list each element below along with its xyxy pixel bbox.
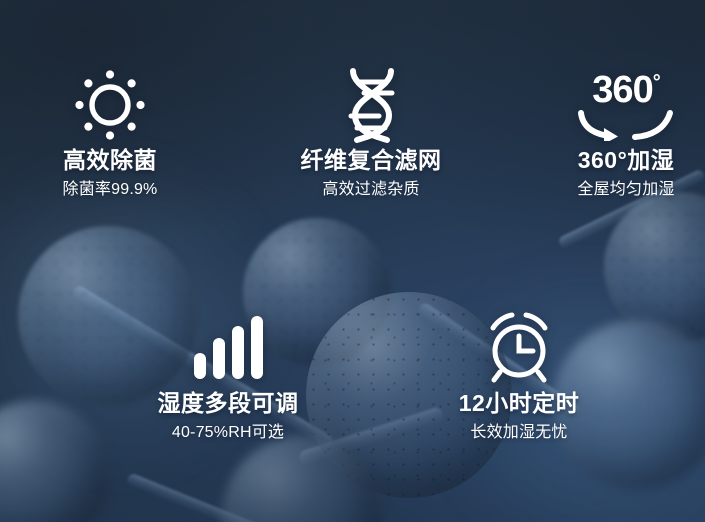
rotation-360-icon: 360° (573, 62, 679, 148)
feature-title: 高效除菌 (63, 148, 157, 173)
alarm-clock-icon (481, 305, 557, 391)
feature-subtitle: 全屋均匀加湿 (577, 181, 674, 199)
feature-subtitle: 除菌率99.9% (63, 181, 158, 199)
feature-banner: 高效除菌 除菌率99.9% 纤维复合 (0, 0, 705, 522)
rotation-360-label: 360 (592, 69, 652, 111)
feature-item-filter: 纤维复合滤网 高效过滤杂质 (266, 62, 476, 199)
signal-bars-icon (192, 305, 264, 391)
feature-title: 360°加湿 (578, 148, 675, 173)
feature-list: 高效除菌 除菌率99.9% 纤维复合 (0, 0, 705, 522)
dna-helix-icon (335, 62, 407, 148)
feature-title: 湿度多段可调 (158, 391, 299, 416)
sun-sterilize-icon (73, 62, 147, 148)
degree-symbol: ° (653, 71, 660, 93)
feature-title: 纤维复合滤网 (301, 148, 442, 173)
feature-item-sterilization: 高效除菌 除菌率99.9% (5, 62, 215, 199)
feature-item-humidify-360: 360° 360°加湿 全屋均匀加湿 (521, 62, 705, 199)
feature-item-humidity-levels: 湿度多段可调 40-75%RH可选 (123, 305, 333, 442)
feature-title: 12小时定时 (459, 391, 580, 416)
feature-item-timer: 12小时定时 长效加湿无忧 (414, 305, 624, 442)
feature-subtitle: 高效过滤杂质 (322, 181, 419, 199)
feature-subtitle: 40-75%RH可选 (172, 424, 284, 442)
feature-subtitle: 长效加湿无忧 (470, 424, 567, 442)
